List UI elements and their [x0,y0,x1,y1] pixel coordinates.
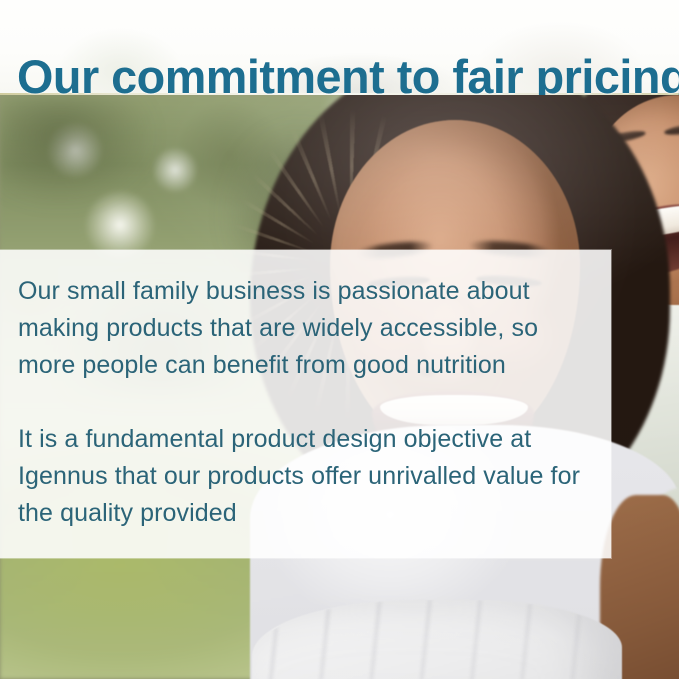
copy-paragraph-1: Our small family business is passionate … [18,273,596,384]
promotional-image: Our commitment to fair pricing [0,0,679,679]
copy-overlay-panel: Our small family business is passionate … [0,250,611,558]
copy-paragraph-2: It is a fundamental product design objec… [18,421,596,532]
copy-text-block: Our small family business is passionate … [18,273,596,532]
